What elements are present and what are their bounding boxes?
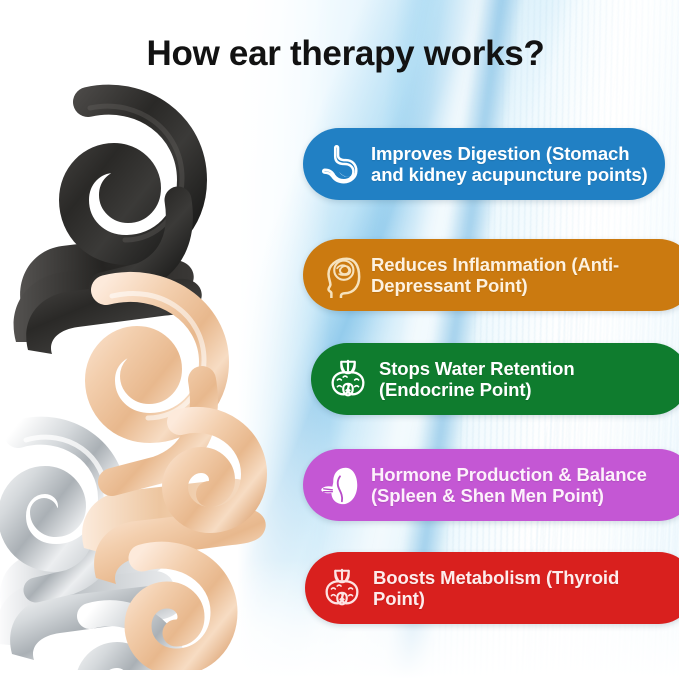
benefit-text-reduces-inflammation: Reduces Inflammation (Anti- Depressant P… <box>371 254 629 297</box>
black-spiral-ear-cuff <box>14 100 202 354</box>
benefit-line-1: Boosts Metabolism (Thyroid <box>373 567 619 588</box>
ear-therapy-infographic: How ear therapy works? Improves Digestio… <box>0 0 679 679</box>
benefit-badge-reduces-inflammation[interactable]: Reduces Inflammation (Anti- Depressant P… <box>303 239 679 311</box>
spleen-icon <box>317 462 363 508</box>
benefit-line-2: (Endocrine Point) <box>379 379 531 400</box>
thyroid-gland-icon <box>325 356 371 402</box>
stomach-icon <box>317 141 363 187</box>
benefit-line-1: Improves Digestion (Stomach <box>371 143 629 164</box>
benefit-line-2: and kidney acupuncture points) <box>371 164 648 185</box>
product-image-spiral-ear-cuffs <box>0 50 312 670</box>
benefit-line-1: Hormone Production & Balance <box>371 464 647 485</box>
benefit-line-2: Point) <box>373 588 425 609</box>
benefit-badge-hormone-production-balance[interactable]: Hormone Production & Balance (Spleen & S… <box>303 449 679 521</box>
benefit-badge-boosts-metabolism[interactable]: Boosts Metabolism (Thyroid Point) <box>305 552 679 624</box>
benefit-line-2: Depressant Point) <box>371 275 528 296</box>
benefit-line-1: Stops Water Retention <box>379 358 575 379</box>
benefit-text-hormone-production-balance: Hormone Production & Balance (Spleen & S… <box>371 464 657 507</box>
page-title: How ear therapy works? <box>0 34 679 74</box>
benefit-text-boosts-metabolism: Boosts Metabolism (Thyroid Point) <box>373 567 629 610</box>
head-brain-icon <box>317 252 363 298</box>
benefit-text-improves-digestion: Improves Digestion (Stomach and kidney a… <box>371 143 658 186</box>
benefit-line-1: Reduces Inflammation (Anti- <box>371 254 619 275</box>
benefit-badge-stops-water-retention[interactable]: Stops Water Retention (Endocrine Point) <box>311 343 679 415</box>
benefit-badge-improves-digestion[interactable]: Improves Digestion (Stomach and kidney a… <box>303 128 665 200</box>
benefit-text-stops-water-retention: Stops Water Retention (Endocrine Point) <box>379 358 585 401</box>
thyroid-gland-icon <box>319 565 365 611</box>
benefit-line-2: (Spleen & Shen Men Point) <box>371 485 604 506</box>
